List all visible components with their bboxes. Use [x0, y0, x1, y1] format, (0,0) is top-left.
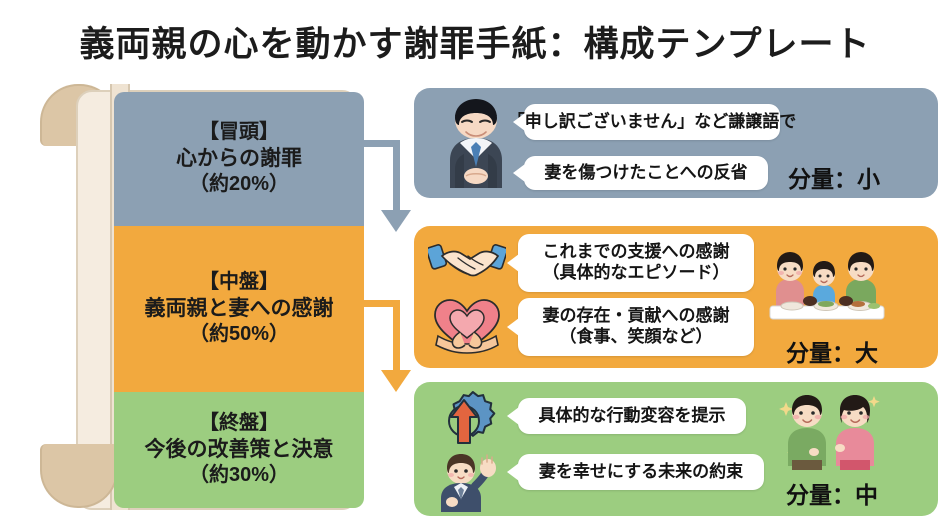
heart-ribbon-icon — [430, 296, 504, 356]
scroll-section-heading: 【中盤】 — [199, 270, 279, 296]
bowing-businessman-icon — [444, 96, 508, 192]
scroll-section-percent: （約30%） — [189, 463, 289, 489]
scroll-section-subject: 今後の改善策と決意 — [145, 437, 334, 464]
scroll-section-subject: 心からの謝罪 — [176, 146, 302, 173]
scroll-section-opening[interactable]: 【冒頭】 心からの謝罪 （約20%） — [114, 92, 364, 226]
infographic-canvas: 義両親の心を動かす謝罪手紙：構成テンプレート 【冒頭】 心からの謝罪 （約20%… — [0, 0, 950, 530]
bubble-text-line2: （食事、笑顔など） — [560, 327, 713, 348]
bubble-humble-language[interactable]: 「申し訳ございません」など謙譲語で — [524, 104, 780, 140]
volume-badge-opening: 分量：小 — [788, 160, 880, 194]
bubble-gratitude-for-wife[interactable]: 妻の存在・貢献への感謝 （食事、笑顔など） — [518, 298, 754, 356]
scroll-section-percent: （約50%） — [189, 322, 289, 348]
scroll-section-heading: 【終盤】 — [199, 411, 279, 437]
page-title: 義両親の心を動かす謝罪手紙：構成テンプレート — [0, 16, 950, 67]
scroll-section-middle[interactable]: 【中盤】 義両親と妻への感謝 （約50%） — [114, 226, 364, 392]
scroll-section-heading: 【冒頭】 — [199, 120, 279, 146]
scroll-section-subject: 義両親と妻への感謝 — [145, 296, 334, 323]
family-dining-icon — [768, 244, 886, 330]
connector-arrow-opening-to-middle — [362, 140, 408, 250]
bubble-text: 具体的な行動変容を提示 — [539, 406, 726, 427]
connector-vertical-bar — [393, 140, 400, 212]
volume-badge-closing: 分量：中 — [786, 476, 878, 510]
connector-arrow-middle-to-closing — [362, 300, 408, 410]
bubble-promise-future-happiness[interactable]: 妻を幸せにする未来の約束 — [518, 454, 764, 490]
scroll-section-percent: （約20%） — [189, 172, 289, 198]
scroll-diagram: 【冒頭】 心からの謝罪 （約20%） 【中盤】 義両親と妻への感謝 （約50%）… — [34, 84, 394, 516]
arrow-down-icon — [381, 210, 411, 232]
bubble-text: 妻を幸せにする未来の約束 — [539, 462, 743, 483]
handshake-icon — [428, 238, 506, 290]
bubble-concrete-behavior-change[interactable]: 具体的な行動変容を提示 — [518, 398, 746, 434]
happy-couple-icon — [778, 386, 884, 470]
bubble-text: 妻を傷つけたことへの反省 — [544, 163, 747, 184]
gear-up-arrow-icon — [428, 390, 500, 452]
waving-man-icon — [432, 450, 498, 514]
arrow-down-icon — [381, 370, 411, 392]
bubble-text-line2: （具体的なエピソード） — [543, 263, 730, 284]
bubble-gratitude-for-support[interactable]: これまでの支援への感謝 （具体的なエピソード） — [518, 234, 754, 292]
scroll-section-closing[interactable]: 【終盤】 今後の改善策と決意 （約30%） — [114, 392, 364, 508]
connector-vertical-bar — [393, 300, 400, 372]
bubble-text-line1: 妻の存在・貢献への感謝 — [543, 306, 730, 327]
volume-badge-middle: 分量：大 — [786, 334, 878, 368]
bubble-text-line1: これまでの支援への感謝 — [543, 242, 730, 263]
bubble-text: 「申し訳ございません」など謙譲語で — [508, 112, 797, 133]
bubble-regret-hurting-wife[interactable]: 妻を傷つけたことへの反省 — [524, 156, 768, 190]
